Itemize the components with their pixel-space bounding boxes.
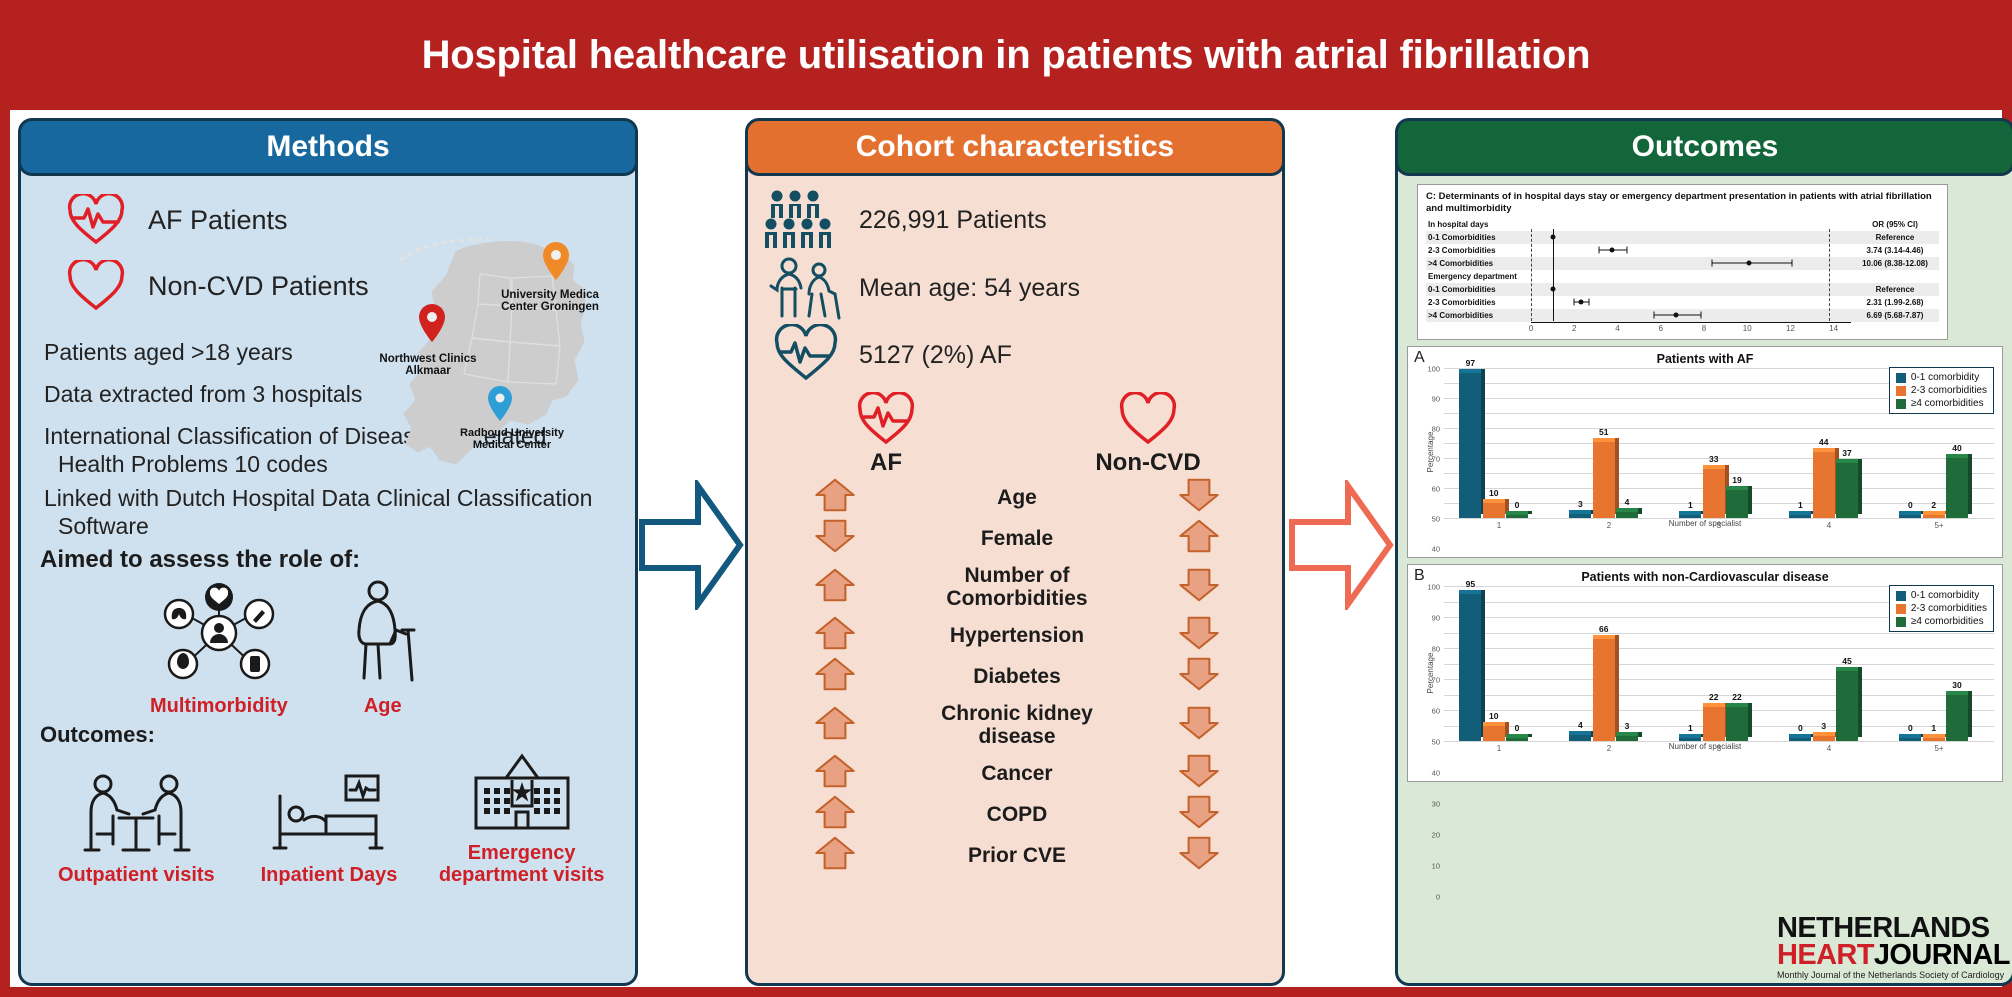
arrow-up-icon xyxy=(807,835,863,871)
bar-value-label: 1 xyxy=(1798,500,1803,510)
chart-b-title: Patients with non-Cardiovascular disease xyxy=(1410,567,2000,584)
cohort-stat-af: 5127 (2%) AF xyxy=(763,324,1271,386)
bar-value-label: 45 xyxy=(1842,656,1851,666)
bar: 3 xyxy=(1813,736,1835,741)
forest-row-label: 0-1 Comorbidities xyxy=(1426,231,1531,244)
outcome-emergency: Emergency department visits xyxy=(437,750,607,886)
bar: 10 xyxy=(1483,726,1505,742)
x-axis-tick: 3 xyxy=(1717,744,1721,753)
bar: 95 xyxy=(1459,594,1481,741)
bar: 97 xyxy=(1459,373,1481,519)
arrow-up-icon xyxy=(807,656,863,692)
arrow-up-icon xyxy=(807,477,863,513)
outcomes-panel-header: Outcomes xyxy=(1395,118,2012,176)
comparison-arrow-af xyxy=(807,567,863,608)
gridline: 0 xyxy=(1444,518,1994,519)
y-axis-tick: 80 xyxy=(1432,425,1440,434)
comparison-row: Diabetes xyxy=(763,656,1271,697)
heart-pulse-icon xyxy=(66,194,126,246)
outcomes-label: Outcomes: xyxy=(40,722,618,748)
bar-value-label: 33 xyxy=(1709,454,1718,464)
forest-plot-c: C: Determinants of in hospital days stay… xyxy=(1417,184,1948,340)
comparison-arrow-noncvd xyxy=(1171,518,1227,559)
bar-value-label: 10 xyxy=(1489,711,1498,721)
x-axis-tick: 5+ xyxy=(1934,744,1943,753)
arrow-down-icon xyxy=(1171,835,1227,871)
chart-a-panel-letter: A xyxy=(1414,349,1425,367)
comparison-label: Cancer xyxy=(863,762,1171,785)
bar: 37 xyxy=(1836,463,1858,519)
gridline: 0 xyxy=(1444,741,1994,742)
comparison-group-headers: AF Non-CVD xyxy=(763,392,1271,477)
legend-swatch xyxy=(1896,399,1906,409)
bar: 4 xyxy=(1569,735,1591,741)
forest-plot-title: C: Determinants of in hospital days stay… xyxy=(1426,191,1939,215)
forest-axis-tick: 8 xyxy=(1702,324,1706,333)
bar-value-label: 37 xyxy=(1842,448,1851,458)
legend-item: ≥4 comorbidities xyxy=(1896,397,1987,410)
forest-axis-tick: 2 xyxy=(1572,324,1576,333)
bar-value-label: 22 xyxy=(1709,692,1718,702)
bar-value-label: 1 xyxy=(1931,723,1936,733)
bar-value-label: 0 xyxy=(1515,500,1520,510)
bar-value-label: 3 xyxy=(1625,721,1630,731)
forest-row: >4 Comorbidities6.69 (5.68-7.87) xyxy=(1426,309,1939,322)
cohort-stat-text: 226,991 Patients xyxy=(859,206,1047,235)
forest-axis-tick: 0 xyxy=(1529,324,1533,333)
bar: 0 xyxy=(1506,515,1528,518)
bar: 1 xyxy=(1789,515,1811,518)
bar: 1 xyxy=(1679,738,1701,741)
chart-a-legend: 0-1 comorbidity2-3 comorbidities≥4 comor… xyxy=(1889,367,1994,414)
forest-row-plot xyxy=(1531,231,1851,244)
bar-value-label: 2 xyxy=(1931,500,1936,510)
comparison-row: COPD xyxy=(763,794,1271,835)
forest-row-or: 2.31 (1.99-2.68) xyxy=(1851,296,1939,309)
bar-value-label: 1 xyxy=(1688,723,1693,733)
bar-value-label: 10 xyxy=(1489,488,1498,498)
role-age: Age xyxy=(338,578,428,718)
bar: 1 xyxy=(1923,738,1945,741)
heart-outline-icon xyxy=(66,260,126,312)
y-axis-tick: 10 xyxy=(1432,862,1440,871)
x-axis-tick: 2 xyxy=(1607,744,1611,753)
comparison-arrow-noncvd xyxy=(1171,615,1227,656)
heart-pulse-icon xyxy=(763,324,849,386)
bar-value-label: 0 xyxy=(1798,723,1803,733)
forest-row-label: >4 Comorbidities xyxy=(1426,257,1531,270)
journal-logo-journal: JOURNAL xyxy=(1874,939,2010,971)
y-axis-tick: 90 xyxy=(1432,614,1440,623)
cohort-content: 226,991 Patients xyxy=(745,176,1285,986)
forest-row-plot xyxy=(1531,283,1851,296)
methods-panel-header: Methods xyxy=(18,118,638,176)
aim-title: Aimed to assess the role of: xyxy=(40,546,618,574)
group-af: AF xyxy=(811,392,961,477)
bar: 22 xyxy=(1703,707,1725,741)
bar: 30 xyxy=(1946,695,1968,742)
comparison-row: Hypertension xyxy=(763,615,1271,656)
legend-swatch xyxy=(1896,386,1906,396)
x-axis-tick: 2 xyxy=(1607,521,1611,530)
bar-value-label: 97 xyxy=(1466,358,1475,368)
legend-label-af: AF Patients xyxy=(148,205,288,236)
comparison-arrow-af xyxy=(807,477,863,518)
heart-outline-icon xyxy=(1117,392,1179,446)
outcome-outpatient: Outpatient visits xyxy=(51,772,221,886)
legend-swatch xyxy=(1896,373,1906,383)
forest-row: >4 Comorbidities10.06 (8.38-12.08) xyxy=(1426,257,1939,270)
forest-axis-tick: 12 xyxy=(1786,324,1795,333)
bar: 19 xyxy=(1726,490,1748,519)
legend-label: 0-1 comorbidity xyxy=(1911,589,1979,602)
comparison-arrow-af xyxy=(807,705,863,746)
group-noncvd: Non-CVD xyxy=(1073,392,1223,477)
bar-value-label: 3 xyxy=(1821,721,1826,731)
map-label-radboud-line1: Radboud University xyxy=(460,427,565,439)
bar-value-label: 40 xyxy=(1952,443,1961,453)
bar-value-label: 1 xyxy=(1688,500,1693,510)
comparison-arrow-af xyxy=(807,794,863,835)
arrow-up-icon xyxy=(807,567,863,603)
x-axis-tick: 1 xyxy=(1497,744,1501,753)
comparison-arrow-noncvd xyxy=(1171,705,1227,746)
y-axis-tick: 100 xyxy=(1427,583,1440,592)
bar-value-label: 30 xyxy=(1952,680,1961,690)
y-axis-tick: 50 xyxy=(1432,515,1440,524)
legend-label: 2-3 comorbidities xyxy=(1911,602,1987,615)
forest-row-label: 2-3 Comorbidities xyxy=(1426,296,1531,309)
forest-section-name: Emergency department xyxy=(1426,270,1531,283)
forest-row: 0-1 ComorbiditiesReference xyxy=(1426,283,1939,296)
arrow-down-icon xyxy=(1171,567,1227,603)
bar: 0 xyxy=(1899,515,1921,518)
comparison-arrow-noncvd xyxy=(1171,567,1227,608)
arrow-down-icon xyxy=(1171,477,1227,513)
legend-label: 2-3 comorbidities xyxy=(1911,384,1987,397)
legend-swatch xyxy=(1896,591,1906,601)
comparison-arrow-noncvd xyxy=(1171,753,1227,794)
bar: 33 xyxy=(1703,469,1725,519)
cohort-stat-text: 5127 (2%) AF xyxy=(859,341,1012,370)
forest-row-or: Reference xyxy=(1851,231,1939,244)
gridline: 70 xyxy=(1444,633,1994,634)
bar-value-label: 0 xyxy=(1908,500,1913,510)
outcome-caption-outpatient: Outpatient visits xyxy=(51,864,221,886)
comparison-rows: Age Female Number ofComorbidities Hypert… xyxy=(763,477,1271,876)
bar-value-label: 44 xyxy=(1819,437,1828,447)
comparison-arrow-noncvd xyxy=(1171,477,1227,518)
group-label-noncvd: Non-CVD xyxy=(1073,449,1223,477)
bar: 22 xyxy=(1726,707,1748,741)
y-axis-tick: 70 xyxy=(1432,676,1440,685)
gridline: 40 xyxy=(1444,679,1994,680)
bar-value-label: 95 xyxy=(1466,579,1475,589)
forest-axis-tick: 14 xyxy=(1829,324,1838,333)
x-axis-tick: 5+ xyxy=(1934,521,1943,530)
comparison-label: Female xyxy=(863,527,1171,550)
role-caption-multimorbidity: Multimorbidity xyxy=(150,695,288,718)
arrow-down-icon xyxy=(1171,705,1227,741)
forest-or-header: OR (95% CI) xyxy=(1851,218,1939,231)
comparison-arrow-af xyxy=(807,615,863,656)
bar-value-label: 66 xyxy=(1599,624,1608,634)
bar-value-label: 3 xyxy=(1578,499,1583,509)
comparison-row: Female xyxy=(763,518,1271,559)
map-label-radboud-line2: Medical Center xyxy=(473,439,552,451)
legend-item: 2-3 comorbidities xyxy=(1896,384,1987,397)
y-axis-tick: 40 xyxy=(1432,545,1440,554)
cohort-panel-header: Cohort characteristics xyxy=(745,118,1285,176)
arrow-down-icon xyxy=(1171,794,1227,830)
legend-swatch xyxy=(1896,604,1906,614)
outcomes-content: C: Determinants of in hospital days stay… xyxy=(1395,174,2012,986)
comparison-arrow-af xyxy=(807,753,863,794)
y-axis-tick: 30 xyxy=(1432,800,1440,809)
chart-b-legend: 0-1 comorbidity2-3 comorbidities≥4 comor… xyxy=(1889,585,1994,632)
comparison-row: Age xyxy=(763,477,1271,518)
comparison-label: Number ofComorbidities xyxy=(863,564,1171,610)
netherlands-map: University Medica Center Groningen North… xyxy=(360,214,630,494)
forest-row-or: 10.06 (8.38-12.08) xyxy=(1851,257,1939,270)
comparison-label: Prior CVE xyxy=(863,844,1171,867)
bar-value-label: 19 xyxy=(1732,475,1741,485)
role-caption-age: Age xyxy=(338,695,428,718)
multimorbidity-network-icon xyxy=(153,578,285,688)
cohort-stat-patients: 226,991 Patients xyxy=(763,188,1271,252)
group-label-af: AF xyxy=(811,449,961,477)
gridline: 30 xyxy=(1444,695,1994,696)
arrow-up-icon xyxy=(807,615,863,651)
heart-pulse-icon xyxy=(855,392,917,446)
legend-label: ≥4 comorbidities xyxy=(1911,397,1984,410)
outcome-caption-emergency: Emergency department visits xyxy=(437,842,607,886)
outcome-caption-inpatient: Inpatient Days xyxy=(244,864,414,886)
title-banner: Hospital healthcare utilisation in patie… xyxy=(0,0,2012,110)
role-multimorbidity: Multimorbidity xyxy=(150,578,288,718)
journal-logo-line2: HEARTJOURNAL xyxy=(1777,942,2005,969)
arrow-up-icon xyxy=(807,794,863,830)
bar-chart-b: B Patients with non-Cardiovascular disea… xyxy=(1407,564,2003,782)
comparison-label: Diabetes xyxy=(863,665,1171,688)
legend-item: 0-1 comorbidity xyxy=(1896,589,1987,602)
bar-chart-a: A Patients with AF Percentage 0102030405… xyxy=(1407,346,2003,558)
map-label-alkmaar-line2: Alkmaar xyxy=(405,365,451,377)
bar: 40 xyxy=(1946,458,1968,518)
gridline: 40 xyxy=(1444,458,1994,459)
y-axis-tick: 20 xyxy=(1432,831,1440,840)
forest-row: 0-1 ComorbiditiesReference xyxy=(1426,231,1939,244)
comparison-arrow-noncvd xyxy=(1171,835,1227,876)
comparison-arrow-af xyxy=(807,656,863,697)
chart-a-ylabel: Percentage xyxy=(1426,432,1435,473)
forest-plot-table: In hospital daysOR (95% CI)0-1 Comorbidi… xyxy=(1426,218,1939,322)
forest-row-plot xyxy=(1531,257,1851,270)
x-axis-tick: 3 xyxy=(1717,521,1721,530)
forest-plot-axis: 02468101214 xyxy=(1531,322,1851,338)
bar-value-label: 4 xyxy=(1578,720,1583,730)
gridline: 60 xyxy=(1444,428,1994,429)
comparison-arrow-af xyxy=(807,518,863,559)
gridline: 50 xyxy=(1444,664,1994,665)
hospital-building-icon xyxy=(462,750,582,836)
comparison-arrow-af xyxy=(807,835,863,876)
chart-a-title: Patients with AF xyxy=(1410,349,2000,366)
arrow-down-icon xyxy=(1171,656,1227,692)
outcome-icon-row: Outpatient visits xyxy=(40,750,618,886)
bar: 3 xyxy=(1616,736,1638,741)
cohort-stat-text: Mean age: 54 years xyxy=(859,274,1080,303)
hospital-bed-monitor-icon xyxy=(270,772,388,858)
elderly-person-cane-icon xyxy=(338,578,428,688)
y-axis-tick: 100 xyxy=(1427,365,1440,374)
outcomes-panel: Outcomes C: Determinants of in hospital … xyxy=(1395,118,2012,986)
map-label-alkmaar-line1: Northwest Clinics xyxy=(379,353,476,365)
outcome-inpatient: Inpatient Days xyxy=(244,772,414,886)
comparison-label: Chronic kidneydisease xyxy=(863,702,1171,748)
bar-value-label: 0 xyxy=(1908,723,1913,733)
group-of-people-icon xyxy=(763,188,849,252)
journal-logo: NETHERLANDS HEARTJOURNAL Monthly Journal… xyxy=(1777,915,2005,981)
arrow-down-icon xyxy=(807,518,863,554)
journal-logo-tagline: Monthly Journal of the Netherlands Socie… xyxy=(1777,970,2005,980)
arrow-down-icon xyxy=(1171,615,1227,651)
y-axis-tick: 50 xyxy=(1432,738,1440,747)
methods-panel: Methods xyxy=(18,118,638,986)
y-axis-tick: 60 xyxy=(1432,485,1440,494)
bar: 0 xyxy=(1899,738,1921,741)
y-axis-tick: 0 xyxy=(1436,893,1440,902)
x-axis-tick: 1 xyxy=(1497,521,1501,530)
journal-logo-line1: NETHERLANDS xyxy=(1777,915,2005,942)
bar-value-label: 51 xyxy=(1599,427,1608,437)
forest-section-name: In hospital days xyxy=(1426,218,1531,231)
legend-label: 0-1 comorbidity xyxy=(1911,371,1979,384)
arrow-up-icon xyxy=(807,705,863,741)
y-axis-tick: 80 xyxy=(1432,645,1440,654)
forest-row-or: 3.74 (3.14-4.46) xyxy=(1851,244,1939,257)
legend-swatch xyxy=(1896,617,1906,627)
consultation-desk-icon xyxy=(81,772,191,858)
forest-row-label: 2-3 Comorbidities xyxy=(1426,244,1531,257)
cohort-panel: Cohort characteristics xyxy=(745,118,1285,986)
forest-row-plot xyxy=(1531,296,1851,309)
forest-row: 2-3 Comorbidities3.74 (3.14-4.46) xyxy=(1426,244,1939,257)
forest-axis-tick: 10 xyxy=(1743,324,1752,333)
comparison-row: Chronic kidneydisease xyxy=(763,697,1271,753)
chart-b-panel-letter: B xyxy=(1414,567,1425,585)
bar: 2 xyxy=(1923,515,1945,518)
map-label-groningen-line2: Center Groningen xyxy=(501,301,599,313)
y-axis-tick: 70 xyxy=(1432,455,1440,464)
comparison-row: Number ofComorbidities xyxy=(763,559,1271,615)
comparison-label: Hypertension xyxy=(863,624,1171,647)
two-persons-age-icon xyxy=(763,256,849,320)
legend-item: 2-3 comorbidities xyxy=(1896,602,1987,615)
comparison-arrow-noncvd xyxy=(1171,794,1227,835)
bar-value-label: 22 xyxy=(1732,692,1741,702)
comparison-row: Cancer xyxy=(763,753,1271,794)
legend-item: ≥4 comorbidities xyxy=(1896,615,1987,628)
forest-row-label: 0-1 Comorbidities xyxy=(1426,283,1531,296)
map-label-groningen-line1: University Medica xyxy=(501,289,599,301)
bar: 66 xyxy=(1593,639,1615,741)
comparison-arrow-noncvd xyxy=(1171,656,1227,697)
forest-row-or: Reference xyxy=(1851,283,1939,296)
x-axis-tick: 4 xyxy=(1827,521,1831,530)
bar: 1 xyxy=(1679,515,1701,518)
bar: 10 xyxy=(1483,503,1505,518)
cohort-stat-mean-age: Mean age: 54 years xyxy=(763,256,1271,320)
comparison-label: Age xyxy=(863,486,1171,509)
y-axis-tick: 90 xyxy=(1432,395,1440,404)
infographic-root: Hospital healthcare utilisation in patie… xyxy=(0,0,2012,997)
bar: 0 xyxy=(1789,738,1811,741)
legend-label: ≥4 comorbidities xyxy=(1911,615,1984,628)
comparison-label: COPD xyxy=(863,803,1171,826)
connector-arrow-cohort-to-outcomes xyxy=(1288,480,1394,610)
y-axis-tick: 60 xyxy=(1432,707,1440,716)
gridline: 60 xyxy=(1444,648,1994,649)
forest-row-label: >4 Comorbidities xyxy=(1426,309,1531,322)
comparison-row: Prior CVE xyxy=(763,835,1271,876)
bar: 3 xyxy=(1569,514,1591,519)
y-axis-tick: 40 xyxy=(1432,769,1440,778)
bar: 0 xyxy=(1506,738,1528,741)
bar: 51 xyxy=(1593,442,1615,519)
arrow-up-icon xyxy=(807,753,863,789)
forest-axis-tick: 6 xyxy=(1658,324,1662,333)
forest-axis-tick: 4 xyxy=(1615,324,1619,333)
legend-label-noncvd: Non-CVD Patients xyxy=(148,271,369,302)
forest-row-plot xyxy=(1531,309,1851,322)
methods-content: University Medica Center Groningen North… xyxy=(18,178,638,986)
page-title: Hospital healthcare utilisation in patie… xyxy=(422,33,1591,78)
journal-logo-heart: HEART xyxy=(1777,939,1874,971)
bar-value-label: 4 xyxy=(1625,497,1630,507)
bar: 45 xyxy=(1836,671,1858,741)
forest-row-or: 6.69 (5.68-7.87) xyxy=(1851,309,1939,322)
bar-value-label: 0 xyxy=(1515,723,1520,733)
legend-item: 0-1 comorbidity xyxy=(1896,371,1987,384)
role-icon-row: Multimorbidity Age xyxy=(150,578,618,718)
x-axis-tick: 4 xyxy=(1827,744,1831,753)
gridline: 50 xyxy=(1444,443,1994,444)
chart-b-ylabel: Percentage xyxy=(1426,653,1435,694)
bar: 4 xyxy=(1616,512,1638,518)
arrow-down-icon xyxy=(1171,753,1227,789)
forest-row: 2-3 Comorbidities2.31 (1.99-2.68) xyxy=(1426,296,1939,309)
arrow-up-icon xyxy=(1171,518,1227,554)
bar: 44 xyxy=(1813,452,1835,518)
connector-arrow-methods-to-cohort xyxy=(638,480,744,610)
forest-row-plot xyxy=(1531,244,1851,257)
